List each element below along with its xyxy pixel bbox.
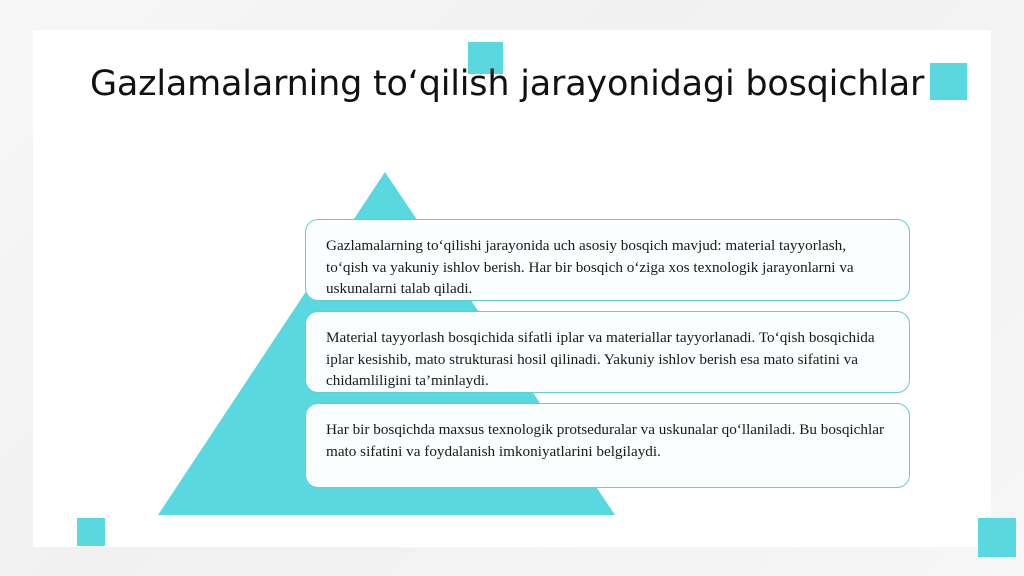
page-title: Gazlamalarning to‘qilish jarayonidagi bo… [90, 63, 970, 105]
content-card-2-text: Material tayyorlash bosqichida sifatli i… [326, 327, 889, 392]
content-card-3-text: Har bir bosqichda maxsus texnologik prot… [326, 419, 889, 462]
content-card-1: Gazlamalarning to‘qilishi jarayonida uch… [305, 219, 910, 301]
accent-square-bottom-right [978, 518, 1016, 557]
content-card-2: Material tayyorlash bosqichida sifatli i… [305, 311, 910, 393]
slide-root: Gazlamalarning to‘qilish jarayonidagi bo… [0, 0, 1024, 576]
content-card-1-text: Gazlamalarning to‘qilishi jarayonida uch… [326, 235, 889, 300]
content-card-3: Har bir bosqichda maxsus texnologik prot… [305, 403, 910, 488]
accent-square-bottom-left [77, 518, 105, 546]
